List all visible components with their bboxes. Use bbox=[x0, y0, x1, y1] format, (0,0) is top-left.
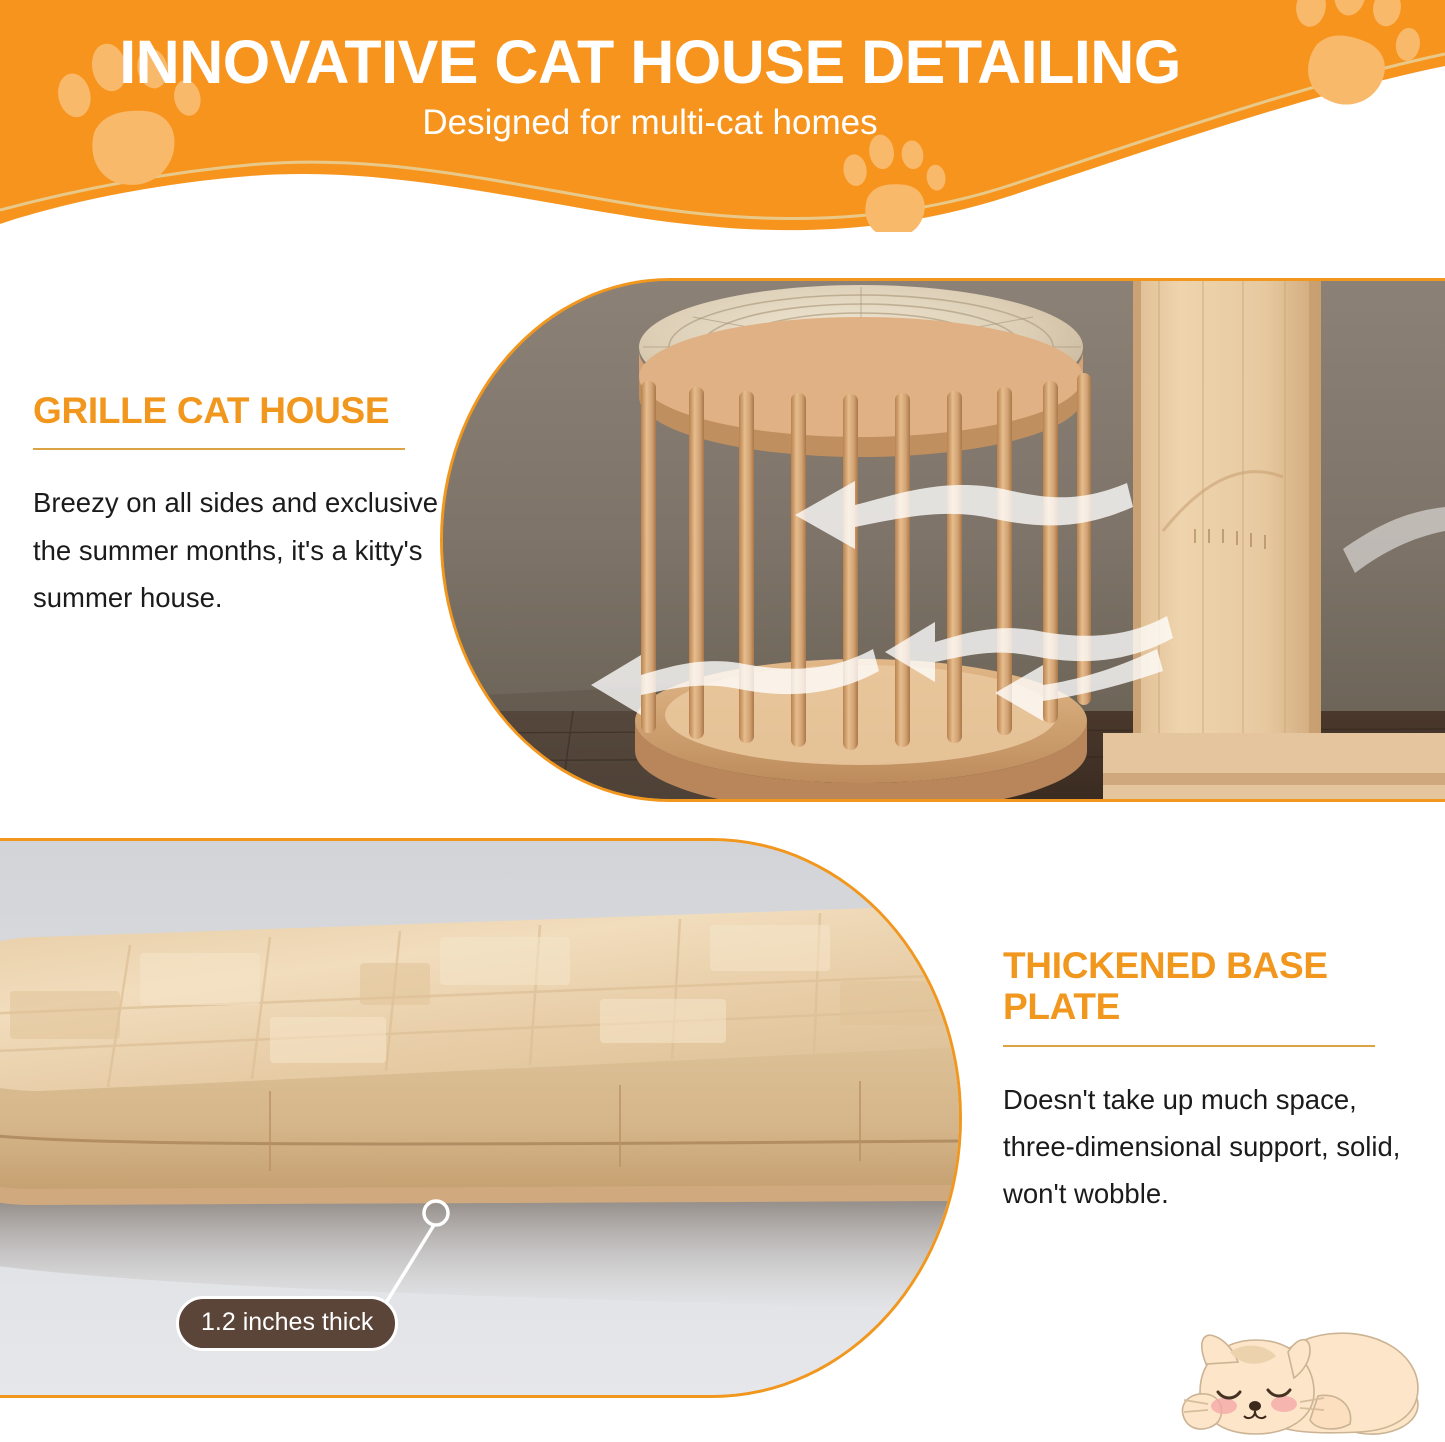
product-photo-base-plate bbox=[0, 838, 962, 1398]
feature-title: THICKENED BASE PLATE bbox=[1003, 945, 1403, 1028]
grille-cat-house-illustration bbox=[443, 281, 1445, 799]
cat-cheek bbox=[1271, 1396, 1297, 1412]
callout-thickness-label: 1.2 inches thick bbox=[176, 1296, 398, 1351]
feature-divider bbox=[1003, 1045, 1375, 1047]
header-banner: INNOVATIVE CAT HOUSE DETAILING Designed … bbox=[0, 0, 1445, 232]
side-wood-panel bbox=[1133, 281, 1321, 751]
cat-nose bbox=[1249, 1401, 1261, 1411]
feature-body: Doesn't take up much space, three-dimens… bbox=[1003, 1076, 1403, 1218]
infographic-page: INNOVATIVE CAT HOUSE DETAILING Designed … bbox=[0, 0, 1445, 1442]
page-subtitle: Designed for multi-cat homes bbox=[0, 103, 1300, 143]
base-plate-illustration bbox=[0, 841, 959, 1395]
product-photo-grille-cat-house bbox=[440, 278, 1445, 802]
feature-block-thickened-base-plate: THICKENED BASE PLATE Doesn't take up muc… bbox=[1003, 945, 1403, 1218]
feature-divider bbox=[33, 448, 405, 450]
feature-body: Breezy on all sides and exclusive to the… bbox=[33, 479, 473, 621]
page-title: INNOVATIVE CAT HOUSE DETAILING bbox=[0, 30, 1300, 94]
feature-block-grille-cat-house: GRILLE CAT HOUSE Breezy on all sides and… bbox=[33, 390, 473, 621]
cat-cheek bbox=[1211, 1398, 1237, 1414]
feature-title: GRILLE CAT HOUSE bbox=[33, 390, 473, 431]
sleeping-cat-icon bbox=[1168, 1322, 1438, 1440]
